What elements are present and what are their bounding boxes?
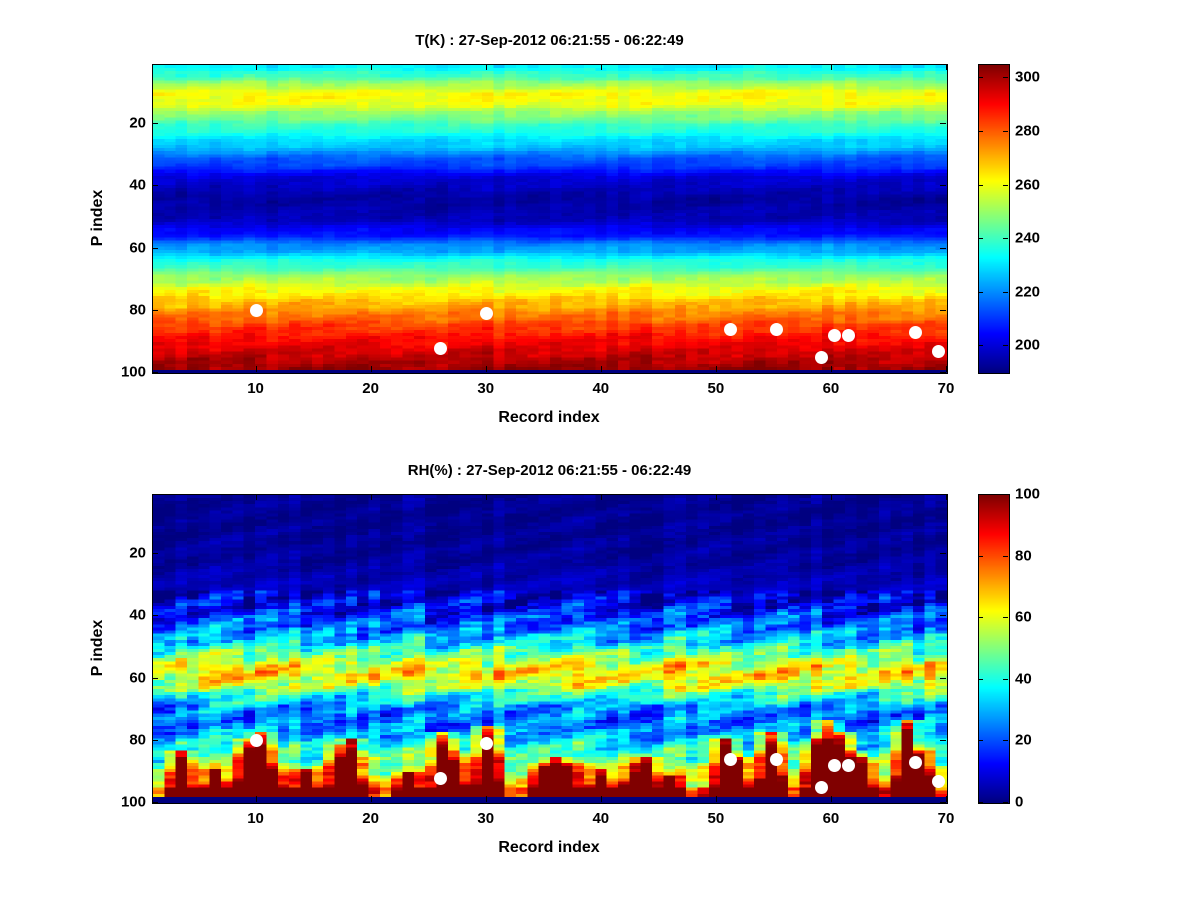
colorbar-tick bbox=[978, 494, 983, 495]
colorbar-tick bbox=[978, 77, 983, 78]
x-tick-label: 10 bbox=[247, 810, 264, 827]
yaxis-label-temperature: P index bbox=[89, 190, 107, 247]
colorbar-tick bbox=[1003, 556, 1008, 557]
y-tick bbox=[152, 248, 158, 249]
x-tick bbox=[371, 494, 372, 500]
x-tick-label: 10 bbox=[247, 380, 264, 397]
colorbar-tick-label: 40 bbox=[1015, 670, 1032, 687]
panel-temperature: T(K) : 27-Sep-2012 06:21:55 - 06:22:49 1… bbox=[0, 0, 1200, 440]
x-tick bbox=[371, 64, 372, 70]
y-tick-label: 100 bbox=[110, 364, 146, 381]
y-tick bbox=[940, 185, 946, 186]
heatmap-relative-humidity bbox=[153, 495, 947, 803]
y-tick bbox=[152, 615, 158, 616]
x-tick bbox=[716, 366, 717, 372]
colorbar-tick bbox=[978, 556, 983, 557]
x-tick bbox=[486, 494, 487, 500]
x-tick bbox=[716, 64, 717, 70]
y-tick bbox=[152, 185, 158, 186]
y-tick-label: 60 bbox=[110, 669, 146, 686]
x-tick bbox=[946, 494, 947, 500]
colorbar-tick bbox=[978, 679, 983, 680]
y-tick bbox=[940, 678, 946, 679]
colorbar-tick bbox=[978, 740, 983, 741]
colorbar-tick-label: 60 bbox=[1015, 609, 1032, 626]
x-tick-label: 20 bbox=[362, 810, 379, 827]
x-tick-label: 60 bbox=[823, 380, 840, 397]
x-tick bbox=[716, 796, 717, 802]
colorbar-tick-label: 20 bbox=[1015, 732, 1032, 749]
x-tick bbox=[601, 64, 602, 70]
colorbar-tick bbox=[1003, 617, 1008, 618]
x-tick-label: 40 bbox=[592, 380, 609, 397]
xaxis-label-relative-humidity: Record index bbox=[498, 839, 599, 857]
y-tick-label: 80 bbox=[110, 731, 146, 748]
yaxis-label-relative-humidity: P index bbox=[89, 620, 107, 677]
x-tick bbox=[946, 64, 947, 70]
x-tick bbox=[946, 366, 947, 372]
colorbar-tick-label: 260 bbox=[1015, 176, 1040, 193]
y-tick bbox=[940, 248, 946, 249]
y-tick bbox=[940, 615, 946, 616]
x-tick bbox=[716, 494, 717, 500]
colorbar-tick-label: 100 bbox=[1015, 486, 1040, 503]
y-tick-label: 80 bbox=[110, 301, 146, 318]
x-tick bbox=[601, 494, 602, 500]
colorbar-tick bbox=[1003, 292, 1008, 293]
colorbar-tick bbox=[1003, 740, 1008, 741]
colorbar-tick bbox=[978, 131, 983, 132]
x-tick-label: 30 bbox=[477, 380, 494, 397]
colorbar-tick bbox=[978, 617, 983, 618]
x-tick-label: 70 bbox=[938, 810, 955, 827]
colorbar-tick-label: 220 bbox=[1015, 283, 1040, 300]
y-tick bbox=[152, 740, 158, 741]
y-tick bbox=[940, 553, 946, 554]
plot-title-temperature: T(K) : 27-Sep-2012 06:21:55 - 06:22:49 bbox=[152, 32, 947, 49]
y-tick bbox=[152, 553, 158, 554]
x-tick bbox=[256, 494, 257, 500]
x-tick bbox=[486, 64, 487, 70]
y-tick-label: 20 bbox=[110, 115, 146, 132]
y-tick bbox=[152, 372, 158, 373]
x-tick bbox=[256, 64, 257, 70]
colorbar-tick bbox=[978, 802, 983, 803]
colorbar-gradient-temperature bbox=[979, 65, 1009, 373]
x-tick bbox=[256, 366, 257, 372]
colorbar-tick bbox=[978, 238, 983, 239]
colorbar-tick-label: 300 bbox=[1015, 69, 1040, 86]
y-tick bbox=[940, 372, 946, 373]
colorbar-tick bbox=[978, 185, 983, 186]
x-tick bbox=[486, 796, 487, 802]
colorbar-relative-humidity bbox=[978, 494, 1010, 804]
colorbar-tick bbox=[1003, 679, 1008, 680]
colorbar-tick bbox=[1003, 345, 1008, 346]
y-tick-label: 100 bbox=[110, 794, 146, 811]
colorbar-tick bbox=[1003, 494, 1008, 495]
x-tick bbox=[831, 64, 832, 70]
panel-relative-humidity: RH(%) : 27-Sep-2012 06:21:55 - 06:22:49 … bbox=[0, 430, 1200, 900]
colorbar-tick bbox=[978, 292, 983, 293]
x-tick bbox=[371, 796, 372, 802]
x-tick-label: 70 bbox=[938, 380, 955, 397]
colorbar-tick bbox=[1003, 185, 1008, 186]
colorbar-tick bbox=[1003, 131, 1008, 132]
x-tick bbox=[831, 796, 832, 802]
y-tick-label: 20 bbox=[110, 545, 146, 562]
colorbar-tick bbox=[1003, 238, 1008, 239]
y-tick bbox=[152, 123, 158, 124]
colorbar-temperature bbox=[978, 64, 1010, 374]
y-tick bbox=[940, 740, 946, 741]
colorbar-gradient-relative-humidity bbox=[979, 495, 1009, 803]
x-tick bbox=[831, 366, 832, 372]
x-tick bbox=[256, 796, 257, 802]
colorbar-tick-label: 240 bbox=[1015, 230, 1040, 247]
figure-canvas: T(K) : 27-Sep-2012 06:21:55 - 06:22:49 1… bbox=[0, 0, 1200, 900]
heatmap-temperature bbox=[153, 65, 947, 373]
colorbar-tick bbox=[978, 345, 983, 346]
y-tick-label: 40 bbox=[110, 177, 146, 194]
colorbar-tick-label: 280 bbox=[1015, 122, 1040, 139]
x-tick-label: 30 bbox=[477, 810, 494, 827]
x-tick bbox=[946, 796, 947, 802]
y-tick bbox=[152, 310, 158, 311]
axes-relative-humidity bbox=[152, 494, 948, 804]
colorbar-tick bbox=[1003, 77, 1008, 78]
axes-temperature bbox=[152, 64, 948, 374]
x-tick-label: 50 bbox=[708, 810, 725, 827]
x-tick bbox=[831, 494, 832, 500]
x-tick bbox=[486, 366, 487, 372]
x-tick bbox=[601, 796, 602, 802]
x-tick-label: 40 bbox=[592, 810, 609, 827]
y-tick bbox=[940, 123, 946, 124]
y-tick-label: 40 bbox=[110, 607, 146, 624]
y-tick bbox=[940, 310, 946, 311]
x-tick-label: 60 bbox=[823, 810, 840, 827]
plot-title-relative-humidity: RH(%) : 27-Sep-2012 06:21:55 - 06:22:49 bbox=[152, 462, 947, 479]
xaxis-label-temperature: Record index bbox=[498, 409, 599, 427]
colorbar-tick bbox=[1003, 802, 1008, 803]
colorbar-tick-label: 80 bbox=[1015, 547, 1032, 564]
colorbar-tick-label: 0 bbox=[1015, 794, 1023, 811]
x-tick bbox=[371, 366, 372, 372]
y-tick-label: 60 bbox=[110, 239, 146, 256]
x-tick-label: 20 bbox=[362, 380, 379, 397]
x-tick bbox=[601, 366, 602, 372]
y-tick bbox=[152, 802, 158, 803]
y-tick bbox=[940, 802, 946, 803]
y-tick bbox=[152, 678, 158, 679]
x-tick-label: 50 bbox=[708, 380, 725, 397]
colorbar-tick-label: 200 bbox=[1015, 337, 1040, 354]
